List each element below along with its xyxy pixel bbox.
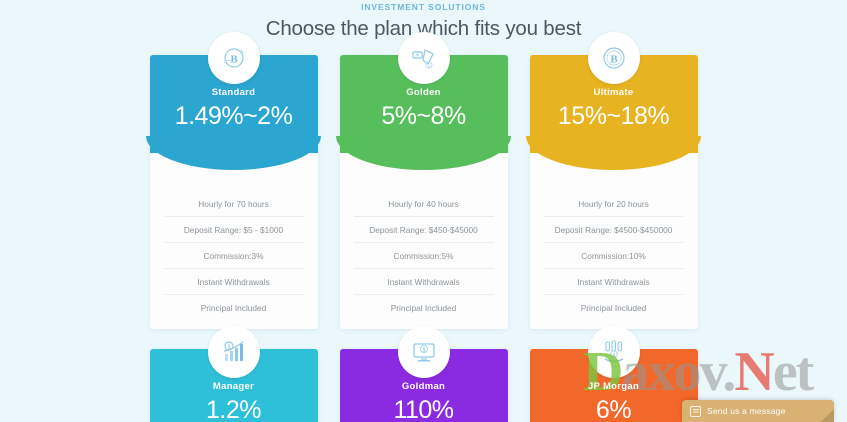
plan-feature: Instant Withdrawals [164,268,304,294]
plan-card-grid: B Standard 1.49%~2% Hourly for 70 hours … [0,55,847,422]
svg-text:$: $ [227,345,230,351]
plan-card-header: B Standard 1.49%~2% [150,55,318,153]
plan-icon-badge: $ [398,32,450,84]
plan-rate: 1.49%~2% [150,102,318,131]
plan-feature: Deposit Range: $450-$45000 [354,216,494,242]
plan-name: Goldman [340,381,508,392]
plan-features: Hourly for 70 hours Deposit Range: $5 - … [150,191,318,320]
svg-text:B: B [610,54,618,66]
chat-widget-label: Send us a message [707,406,786,416]
plan-rate: 15%~18% [530,102,698,131]
plan-icon-badge: B [208,32,260,84]
plan-name: Ultimate [530,87,698,98]
plan-rate: 6% [530,396,698,422]
plan-name: Standard [150,87,318,98]
plan-feature: Instant Withdrawals [354,268,494,294]
plan-feature: Hourly for 40 hours [354,191,494,216]
plan-icon-badge: B [588,32,640,84]
plan-feature: Commission:3% [164,242,304,268]
plan-name: Manager [150,381,318,392]
svg-text:$: $ [422,348,425,354]
svg-text:B: B [230,54,238,66]
plan-card-manager[interactable]: $ Manager 1.2% Daily for 60 days Deposit… [150,349,318,422]
plan-card-ultimate[interactable]: B Ultimate 15%~18% Hourly for 20 hours D… [530,55,698,329]
chat-widget[interactable]: Send us a message [682,400,834,422]
plan-feature: Deposit Range: $4500-$450000 [544,216,684,242]
plan-rate: 110% [340,396,508,422]
plan-feature: Commission:10% [544,242,684,268]
plan-feature: Instant Withdrawals [544,268,684,294]
plan-name: JP Morgan [530,381,698,392]
plan-rate: 1.2% [150,396,318,422]
plan-rate: 5%~8% [340,102,508,131]
plan-feature: Principal Included [164,294,304,320]
plan-icon-badge: $ [208,326,260,378]
plan-name: Golden [340,87,508,98]
plan-icon-badge: $ [588,326,640,378]
plan-feature: Hourly for 20 hours [544,191,684,216]
plan-feature: Principal Included [354,294,494,320]
plan-card-header: $ Manager 1.2% [150,349,318,422]
svg-text:$: $ [427,64,430,69]
plan-feature: Deposit Range: $5 - $1000 [164,216,304,242]
plan-card-golden[interactable]: $ Golden 5%~8% Hourly for 40 hours Depos… [340,55,508,329]
plan-card-goldman[interactable]: $ Goldman 110% After 4 days Deposit Rang… [340,349,508,422]
plan-icon-badge: $ [398,326,450,378]
plan-card-header: B Ultimate 15%~18% [530,55,698,153]
plan-feature: Principal Included [544,294,684,320]
section-eyebrow: INVESTMENT SOLUTIONS [0,0,847,12]
hand-coins-icon: $ [599,337,629,367]
plan-card-header: $ JP Morgan 6% [530,349,698,422]
monitor-coin-icon: $ [409,337,439,367]
plan-feature: Commission:5% [354,242,494,268]
investment-plans-page: INVESTMENT SOLUTIONS Choose the plan whi… [0,0,847,422]
growth-chart-icon: $ [219,337,249,367]
bitcoin-rocket-icon: B [219,43,249,73]
plan-card-standard[interactable]: B Standard 1.49%~2% Hourly for 70 hours … [150,55,318,329]
plan-feature: Hourly for 70 hours [164,191,304,216]
plan-features: Hourly for 40 hours Deposit Range: $450-… [340,191,508,320]
plan-card-jp-morgan[interactable]: $ JP Morgan 6% Daily after 20 days Depos… [530,349,698,422]
plan-card-header: $ Golden 5%~8% [340,55,508,153]
money-hand-icon: $ [409,43,439,73]
chat-corner-fold [821,409,834,422]
plan-card-header: $ Goldman 110% [340,349,508,422]
bitcoin-coin-icon: B [599,43,629,73]
plan-features: Hourly for 20 hours Deposit Range: $4500… [530,191,698,320]
